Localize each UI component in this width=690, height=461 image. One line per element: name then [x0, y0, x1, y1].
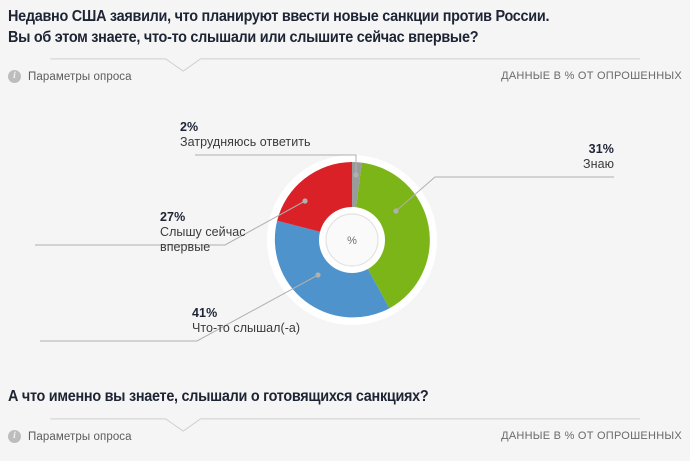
callout-category: Затрудняюсь ответить [180, 135, 311, 150]
survey-meta-bar-1: i Параметры опроса ДАННЫЕ В % ОТ ОПРОШЕН… [0, 58, 690, 88]
callout-znayu: 31% Знаю [394, 142, 614, 172]
callout-slyshu-vpervye: 27% Слышу сейчас впервые [160, 210, 246, 255]
callout-value: 27% [160, 210, 246, 225]
info-icon: i [8, 430, 21, 443]
donut-chart: % 2% Затрудняюсь ответить 31% Знаю 27% С… [0, 100, 690, 370]
data-units-label-1: ДАННЫЕ В % ОТ ОПРОШЕННЫХ [501, 70, 682, 82]
donut-chart-svg: % [0, 100, 690, 370]
survey-params-label: Параметры опроса [28, 431, 132, 443]
data-units-label-2: ДАННЫЕ В % ОТ ОПРОШЕННЫХ [501, 430, 682, 442]
survey-meta-bar-2: i Параметры опроса ДАННЫЕ В % ОТ ОПРОШЕН… [0, 418, 690, 448]
callout-chto-to-slyshal: 41% Что-то слышал(-а) [192, 306, 300, 336]
survey-params-1[interactable]: i Параметры опроса [8, 70, 132, 83]
callout-zatrudnyayus: 2% Затрудняюсь ответить [180, 120, 311, 150]
info-icon: i [8, 70, 21, 83]
page-title-2: А что именно вы знаете, слышали о готовя… [8, 386, 635, 407]
page-title: Недавно США заявили, что планируют ввест… [8, 6, 635, 48]
callout-value: 2% [180, 120, 311, 135]
callout-category: Знаю [394, 157, 614, 172]
survey-params-2[interactable]: i Параметры опроса [8, 430, 132, 443]
callout-value: 31% [394, 142, 614, 157]
callout-value: 41% [192, 306, 300, 321]
callout-category: Слышу сейчас впервые [160, 225, 246, 255]
donut-center-label: % [347, 235, 357, 247]
callout-category: Что-то слышал(-а) [192, 321, 300, 336]
survey-params-label: Параметры опроса [28, 71, 132, 83]
